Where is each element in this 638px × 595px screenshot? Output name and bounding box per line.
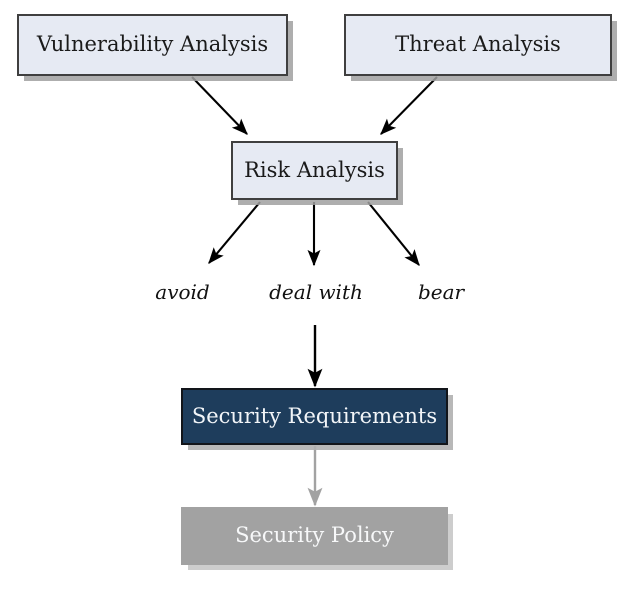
node-vulnerability-analysis[interactable]: Vulnerability Analysis [17, 14, 288, 76]
node-label: Security Requirements [192, 405, 437, 428]
edge-threat-to-risk [381, 77, 437, 134]
node-security-requirements[interactable]: Security Requirements [181, 388, 448, 445]
node-label: Risk Analysis [244, 159, 385, 182]
node-risk-analysis[interactable]: Risk Analysis [231, 141, 398, 200]
edge-vulnerability-to-risk [192, 77, 247, 134]
edge-label-avoid: avoid [130, 280, 235, 304]
edge-risk-to-bear [368, 202, 419, 265]
node-label: Security Policy [235, 524, 394, 547]
node-security-policy[interactable]: Security Policy [181, 507, 448, 565]
node-label: Vulnerability Analysis [37, 33, 268, 56]
node-threat-analysis[interactable]: Threat Analysis [344, 14, 612, 76]
edge-label-bear: bear [396, 280, 486, 304]
diagram-canvas: Vulnerability Analysis Threat Analysis R… [0, 0, 638, 595]
edge-risk-to-avoid [209, 202, 260, 263]
node-label: Threat Analysis [395, 33, 561, 56]
edge-label-deal-with: deal with [256, 280, 376, 304]
